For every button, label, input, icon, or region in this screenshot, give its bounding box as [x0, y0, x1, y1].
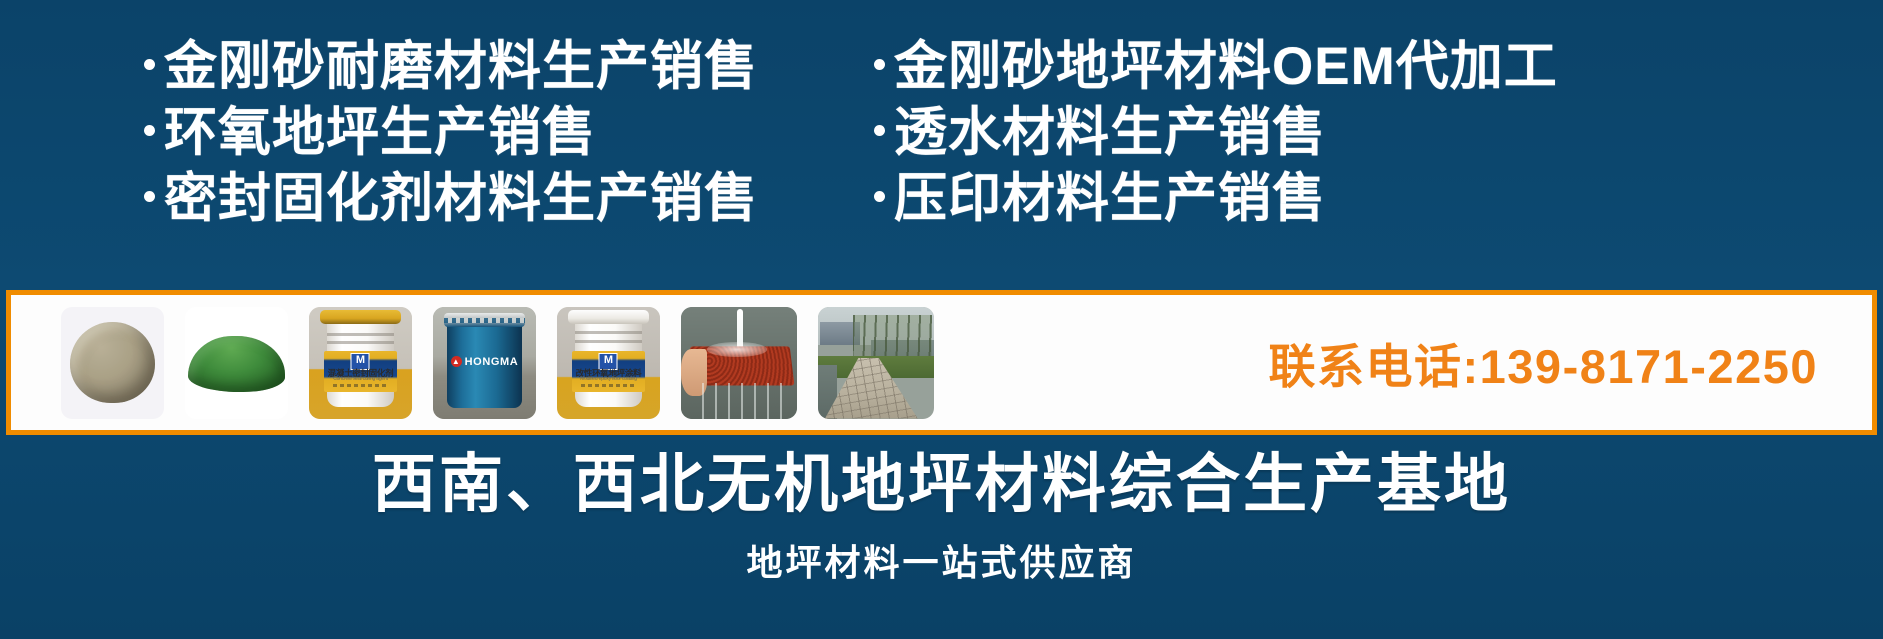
bucket-ring — [575, 331, 643, 334]
promotional-banner: 金刚砂耐磨材料生产销售 环氧地坪生产销售 密封固化剂材料生产销售 金刚砂地坪材料… — [0, 0, 1883, 639]
water-pool-shape — [707, 342, 767, 357]
services-section: 金刚砂耐磨材料生产销售 环氧地坪生产销售 密封固化剂材料生产销售 金刚砂地坪材料… — [0, 0, 1883, 287]
drum-brand-label: HONGMA — [465, 356, 519, 368]
bucket-label-fineprint — [333, 384, 388, 388]
bullet-dot-icon — [874, 59, 885, 70]
product-thumbnail-permeable-block — [681, 307, 797, 419]
bullet-dot-icon — [144, 125, 155, 136]
service-label: 压印材料生产销售 — [894, 170, 1326, 227]
bucket-label-en: Modified epoxy floor coating — [572, 376, 644, 382]
service-item: 环氧地坪生产销售 — [144, 104, 758, 161]
product-strip: M 混凝土密封固化剂 Concrete seal curing agent ▲H… — [6, 290, 1877, 435]
bucket-label-en: Concrete seal curing agent — [324, 376, 396, 382]
hongma-logo-icon: ▲ — [451, 356, 462, 367]
product-thumbnail-hongma-drum: ▲HONGMA — [433, 307, 536, 419]
service-label: 金刚砂耐磨材料生产销售 — [164, 38, 758, 95]
product-thumbnail-stamped-path — [818, 307, 934, 419]
contact-phone[interactable]: 联系电话:139-8171-2250 — [1269, 328, 1819, 397]
powder-pile-shape — [188, 336, 285, 392]
bucket-label-fineprint — [581, 384, 636, 388]
powder-pile-shape — [70, 322, 154, 403]
bullet-dot-icon — [144, 59, 155, 70]
drum-brand-text: ▲HONGMA — [433, 356, 536, 368]
product-thumbnail-green-powder — [185, 307, 288, 419]
services-right-column: 金刚砂地坪材料OEM代加工 透水材料生产销售 压印材料生产销售 — [874, 0, 1558, 237]
services-left-column: 金刚砂耐磨材料生产销售 环氧地坪生产销售 密封固化剂材料生产销售 — [144, 0, 758, 237]
service-label: 透水材料生产销售 — [894, 104, 1326, 161]
service-label: 金刚砂地坪材料OEM代加工 — [894, 38, 1558, 95]
bullet-dot-icon — [874, 191, 885, 202]
product-thumbnail-sealer-bucket: M 混凝土密封固化剂 Concrete seal curing agent — [309, 307, 412, 419]
bucket-ring — [327, 333, 395, 336]
product-thumbnail-abrasive-powder — [61, 307, 164, 419]
service-item: 压印材料生产销售 — [874, 170, 1558, 227]
drum-rim — [444, 313, 524, 326]
product-thumbnail-epoxy-bucket: M 改性环氧地坪涂料 Modified epoxy floor coating — [557, 307, 660, 419]
bucket-label: M 混凝土密封固化剂 Concrete seal curing agent — [324, 351, 396, 391]
service-item: 金刚砂耐磨材料生产销售 — [144, 38, 758, 95]
footer-section: 西南、西北无机地坪材料综合生产基地 地坪材料一站式供应商 — [0, 438, 1883, 639]
bullet-dot-icon — [144, 191, 155, 202]
service-item: 金刚砂地坪材料OEM代加工 — [874, 38, 1558, 95]
service-item: 密封固化剂材料生产销售 — [144, 170, 758, 227]
service-label: 环氧地坪生产销售 — [164, 104, 596, 161]
bucket-ring — [575, 340, 643, 343]
service-item: 透水材料生产销售 — [874, 104, 1558, 161]
footer-tagline: 地坪材料一站式供应商 — [0, 534, 1883, 586]
product-thumbnail-list: M 混凝土密封固化剂 Concrete seal curing agent ▲H… — [61, 307, 934, 419]
footer-headline: 西南、西北无机地坪材料综合生产基地 — [0, 451, 1883, 518]
bucket-lid — [568, 310, 648, 325]
bucket-ring — [327, 341, 395, 344]
water-drips-shape — [702, 383, 786, 419]
bucket-label: M 改性环氧地坪涂料 Modified epoxy floor coating — [572, 351, 644, 391]
bullet-dot-icon — [874, 125, 885, 136]
service-label: 密封固化剂材料生产销售 — [164, 170, 758, 227]
bucket-lid — [320, 310, 400, 325]
